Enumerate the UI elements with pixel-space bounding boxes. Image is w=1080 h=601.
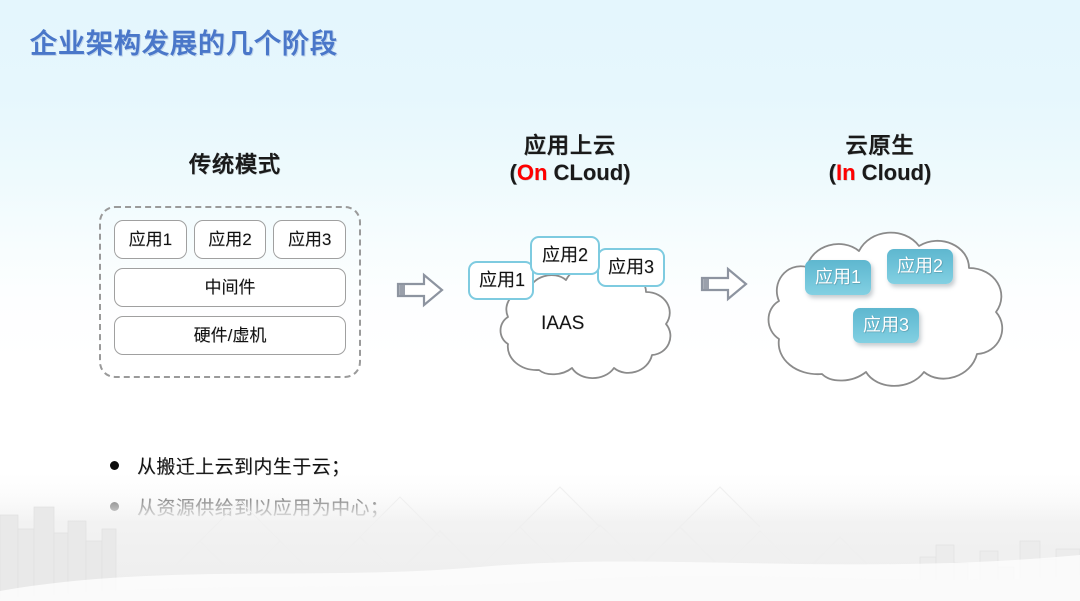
panel-heading-on-cloud-cn: 应用上云 <box>440 133 700 160</box>
cloud-label-iaas: IAAS <box>541 313 584 335</box>
cloud-native-highlight: In <box>836 160 856 185</box>
cloud-native-rest: Cloud <box>856 160 924 185</box>
on-cloud-highlight: On <box>517 160 548 185</box>
panel-heading-traditional-cn: 传统模式 <box>90 152 380 179</box>
traditional-infrastructure[interactable]: 硬件/虚机 <box>114 316 346 355</box>
traditional-stack-container: 应用1 应用2 应用3 中间件 硬件/虚机 <box>99 206 361 378</box>
arrow-right-icon <box>700 266 748 302</box>
arrow-right-icon <box>396 272 444 308</box>
bullet-dot-icon <box>110 543 119 552</box>
on-cloud-rest: CLoud <box>547 160 623 185</box>
panel-heading-on-cloud-en: (On CLoud) <box>440 160 700 187</box>
traditional-app-2[interactable]: 应用2 <box>194 220 267 259</box>
traditional-app-1[interactable]: 应用1 <box>114 220 187 259</box>
bullet-text-3: 完全基于云的体现进行建设，充分发挥云的优势。 <box>137 534 564 561</box>
on-cloud-app-1[interactable]: 应用1 <box>468 261 534 300</box>
bullet-dot-icon <box>110 461 119 470</box>
traditional-app-3[interactable]: 应用3 <box>273 220 346 259</box>
traditional-app-row: 应用1 应用2 应用3 <box>114 220 346 259</box>
bullet-text-1: 从搬迁上云到内生于云； <box>137 452 350 479</box>
list-item: 从搬迁上云到内生于云； <box>110 452 810 479</box>
cloud-native-app-2[interactable]: 应用2 <box>887 249 953 284</box>
panel-heading-traditional: 传统模式 <box>90 152 380 179</box>
traditional-middleware[interactable]: 中间件 <box>114 268 346 307</box>
bullet-text-2: 从资源供给到以应用为中心； <box>137 493 389 520</box>
bullet-dot-icon <box>110 502 119 511</box>
panel-heading-cloud-native-en: (In Cloud) <box>750 160 1010 187</box>
paren-open: ( <box>510 160 517 185</box>
paren-close: ) <box>623 160 630 185</box>
paren-close: ) <box>924 160 931 185</box>
list-item: 从资源供给到以应用为中心； <box>110 493 810 520</box>
on-cloud-app-2[interactable]: 应用2 <box>530 236 600 275</box>
panel-heading-cloud-native: 云原生 (In Cloud) <box>750 133 1010 187</box>
panel-heading-cloud-native-cn: 云原生 <box>750 133 1010 160</box>
paren-open: ( <box>829 160 836 185</box>
slide-canvas: 企业架构发展的几个阶段 传统模式 应用1 应用2 应用3 中间件 硬件/虚机 应… <box>0 0 1080 601</box>
list-item: 完全基于云的体现进行建设，充分发挥云的优势。 <box>110 534 810 561</box>
page-title: 企业架构发展的几个阶段 <box>30 22 338 61</box>
cloud-native-app-3[interactable]: 应用3 <box>853 308 919 343</box>
on-cloud-app-3[interactable]: 应用3 <box>597 248 665 287</box>
panel-heading-on-cloud: 应用上云 (On CLoud) <box>440 133 700 187</box>
cloud-native-app-1[interactable]: 应用1 <box>805 260 871 295</box>
bullet-list: 从搬迁上云到内生于云； 从资源供给到以应用为中心； 完全基于云的体现进行建设，充… <box>110 452 810 575</box>
